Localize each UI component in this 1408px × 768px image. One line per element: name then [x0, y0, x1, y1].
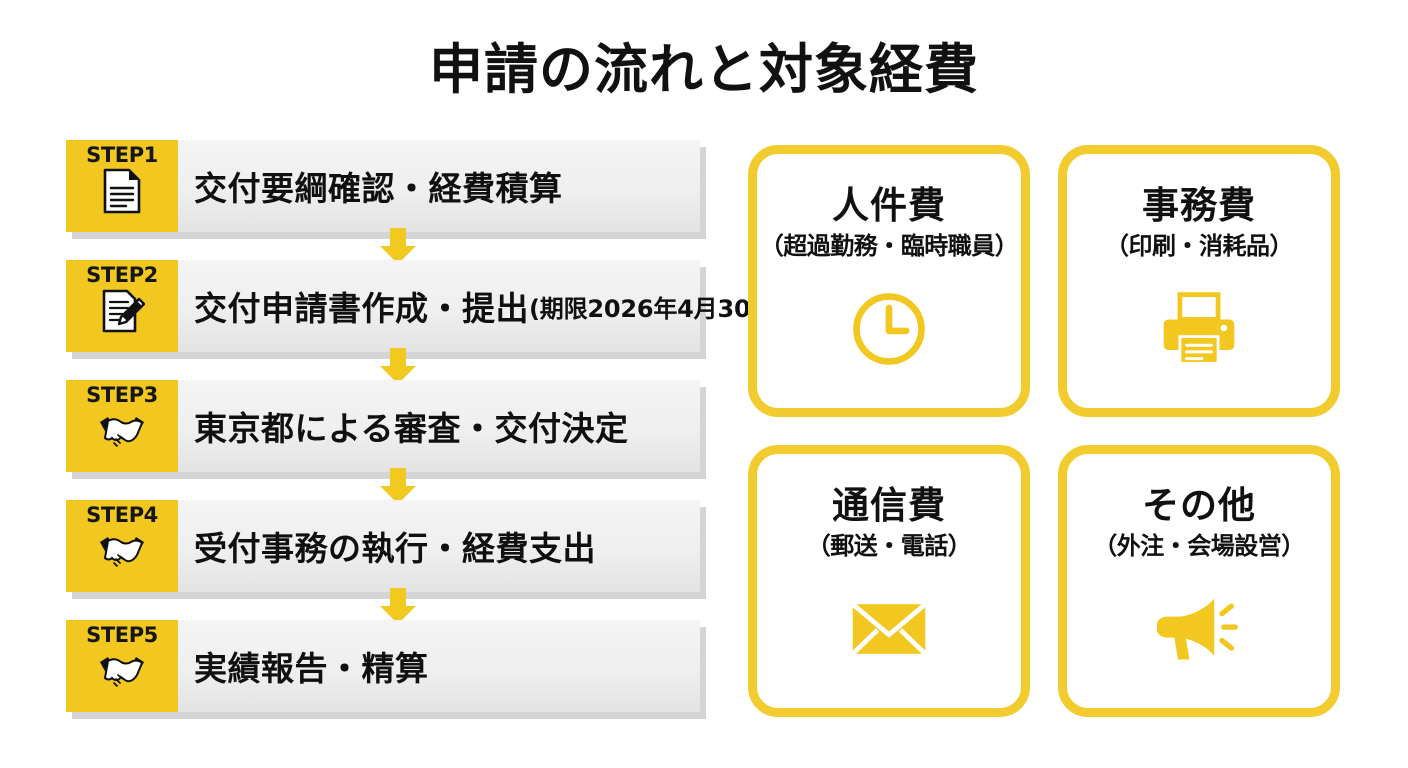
card-subtitle: （超過勤務・臨時職員）: [760, 233, 1019, 259]
card-title: 人件費: [832, 186, 946, 226]
step-text-main: 交付要綱確認・経費積算: [194, 162, 563, 210]
clock-icon: [845, 285, 933, 373]
card-title: 事務費: [1142, 186, 1256, 226]
expense-card-communication[interactable]: 通信費 （郵送・電話）: [748, 445, 1030, 717]
step-text: 受付事務の執行・経費支出: [194, 500, 596, 592]
expense-card-office[interactable]: 事務費 （印刷・消耗品）: [1058, 145, 1340, 417]
card-subtitle: （外注・会場設営）: [1093, 533, 1305, 559]
step-text-main: 受付事務の執行・経費支出: [194, 522, 596, 570]
step-text-main: 東京都による審査・交付決定: [194, 402, 629, 450]
step-badge-3: STEP3: [66, 380, 178, 472]
step-label: STEP1: [86, 144, 158, 166]
step-text: 実績報告・精算: [194, 620, 429, 712]
down-arrow-icon: [374, 468, 422, 504]
step-connector: [66, 232, 706, 260]
handshake-icon: [99, 647, 145, 695]
step-row: STEP2 交付申請書作成・提出(期限2026年4月30日): [66, 260, 706, 352]
card-subtitle: （印刷・消耗品）: [1105, 233, 1293, 259]
envelope-icon: [845, 585, 933, 673]
expense-card-other[interactable]: その他 （外注・会場設営）: [1058, 445, 1340, 717]
megaphone-icon: [1155, 585, 1243, 673]
step-text-note: (期限2026年4月30日): [529, 289, 785, 324]
step-text: 交付申請書作成・提出(期限2026年4月30日): [194, 260, 785, 352]
step-badge-5: STEP5: [66, 620, 178, 712]
application-flow-list: STEP1 交付要綱確認・経費積算: [66, 140, 706, 712]
step-label: STEP5: [86, 624, 158, 646]
page-title: 申請の流れと対象経費: [0, 40, 1408, 99]
card-title: その他: [1142, 486, 1256, 526]
card-title: 通信費: [832, 486, 946, 526]
step-text-main: 交付申請書作成・提出: [194, 282, 529, 330]
printer-icon: [1155, 285, 1243, 373]
step-badge-2: STEP2: [66, 260, 178, 352]
step-connector: [66, 352, 706, 380]
step-label: STEP4: [86, 504, 158, 526]
card-subtitle: （郵送・電話）: [807, 533, 972, 559]
step-label: STEP3: [86, 384, 158, 406]
step-connector: [66, 472, 706, 500]
down-arrow-icon: [374, 228, 422, 264]
step-row: STEP1 交付要綱確認・経費積算: [66, 140, 706, 232]
step-row: STEP5 実績報告・精算: [66, 620, 706, 712]
expense-card-grid: 人件費 （超過勤務・臨時職員） 事務費 （印刷・消耗品）: [748, 145, 1348, 717]
down-arrow-icon: [374, 588, 422, 624]
document-icon: [99, 167, 145, 215]
step-label: STEP2: [86, 264, 158, 286]
step-text-main: 実績報告・精算: [194, 642, 429, 690]
step-text: 交付要綱確認・経費積算: [194, 140, 563, 232]
document-pencil-icon: [99, 287, 145, 335]
step-badge-1: STEP1: [66, 140, 178, 232]
expense-card-personnel[interactable]: 人件費 （超過勤務・臨時職員）: [748, 145, 1030, 417]
step-row: STEP3 東京都による審査・交付決定: [66, 380, 706, 472]
handshake-icon: [99, 407, 145, 455]
down-arrow-icon: [374, 348, 422, 384]
step-connector: [66, 592, 706, 620]
step-text: 東京都による審査・交付決定: [194, 380, 629, 472]
step-row: STEP4 受付事務の執行・経費支出: [66, 500, 706, 592]
step-badge-4: STEP4: [66, 500, 178, 592]
handshake-icon: [99, 527, 145, 575]
